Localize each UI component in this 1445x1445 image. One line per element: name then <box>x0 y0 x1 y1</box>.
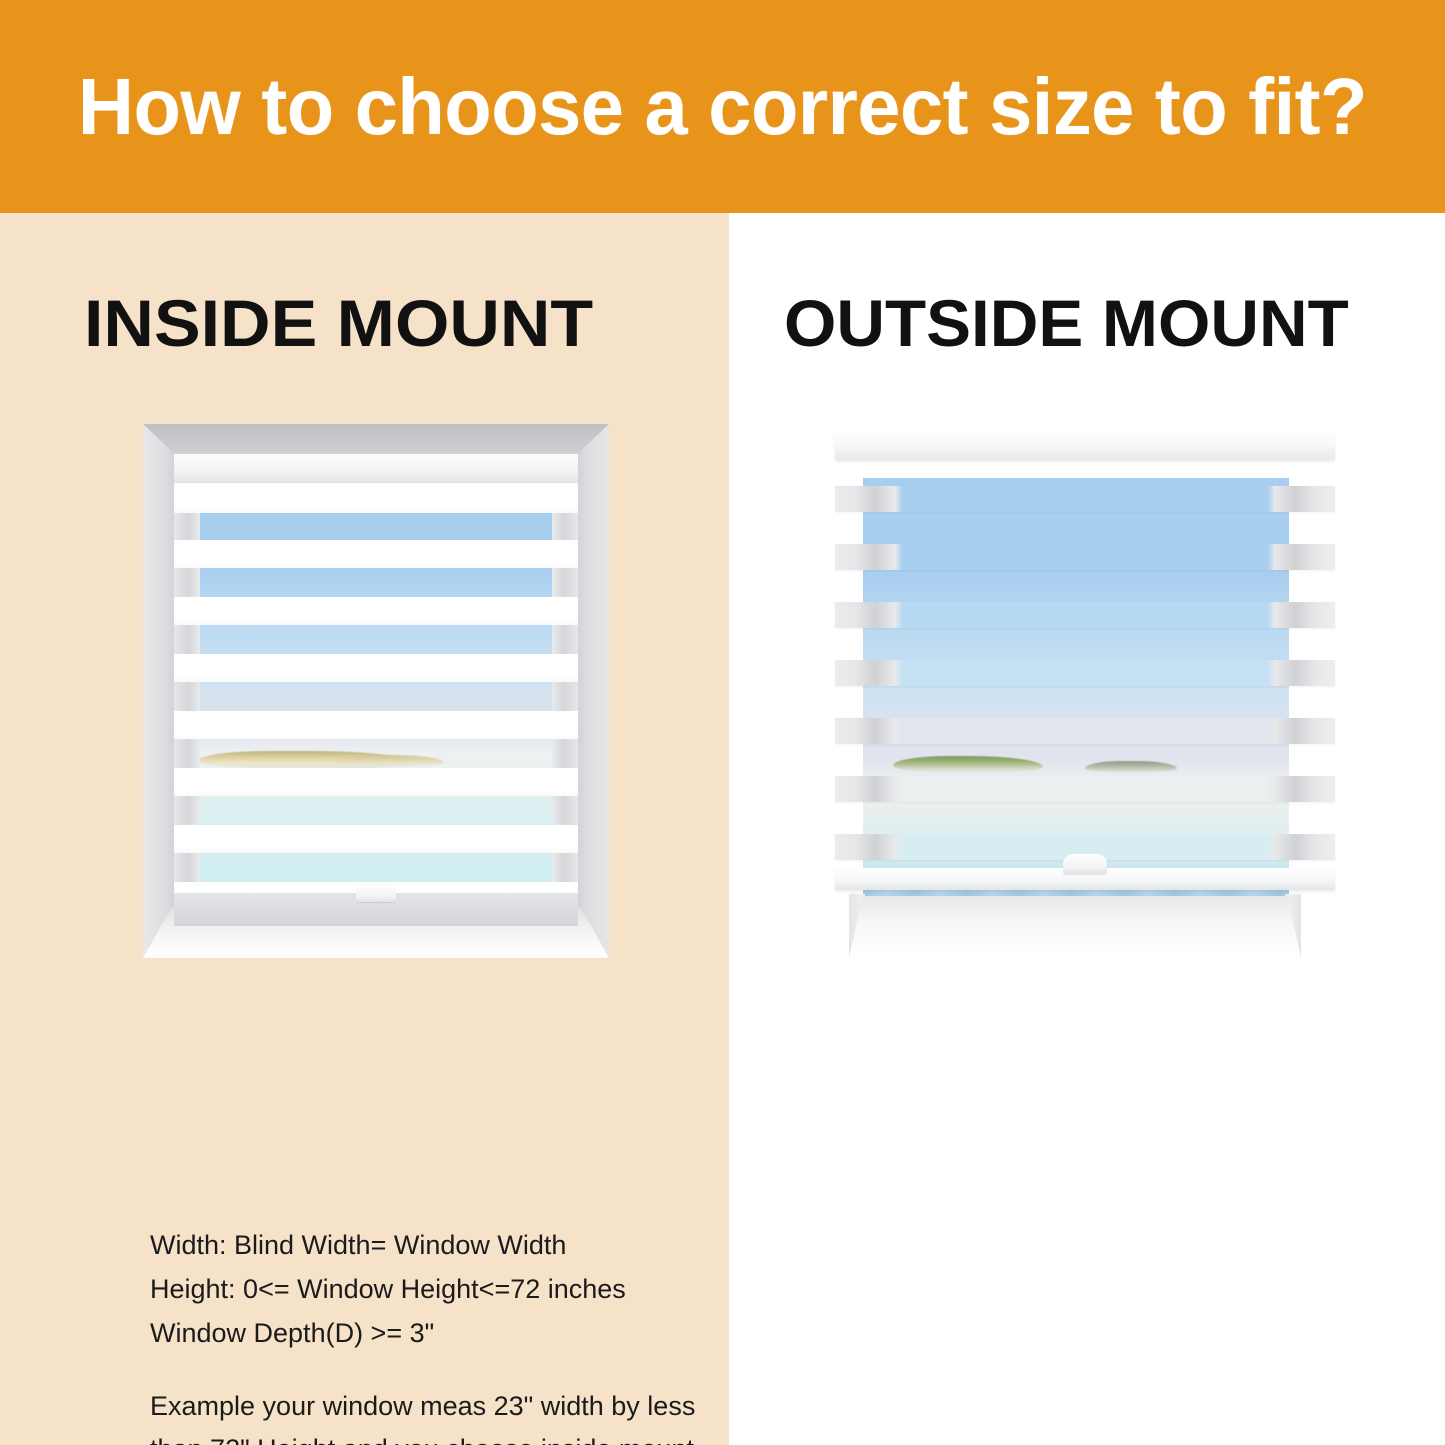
blind-slat <box>835 602 1335 628</box>
outside-mount-heading: OUTSIDE MOUNT <box>784 285 1349 361</box>
blind-side-tab <box>174 513 200 540</box>
island-shape-secondary <box>1085 761 1177 772</box>
blind-headrail <box>835 430 1335 460</box>
window-frame-top-bevel <box>143 424 609 458</box>
blind-opaque-band <box>174 483 578 513</box>
blind-opaque-band <box>174 654 578 682</box>
window-frame-right-bevel <box>575 424 609 958</box>
inside-mount-specs: Width: Blind Width= Window Width Height:… <box>150 1223 710 1355</box>
blind-slat <box>835 660 1335 686</box>
blind-slat <box>835 486 1335 512</box>
blind-slat <box>835 544 1335 570</box>
window-frame-left-bevel <box>143 424 177 958</box>
blind-slat-sheer <box>835 718 1335 744</box>
blind-handle[interactable] <box>356 883 396 902</box>
blind-side-tab <box>552 796 578 825</box>
blind-opaque-band <box>174 711 578 739</box>
blind-side-tab <box>552 625 578 654</box>
spec-line-height: Height: 0<= Window Height<=72 inches <box>150 1267 710 1311</box>
blind-slat-sheer <box>835 776 1335 802</box>
inside-mount-panel: INSIDE MOUNT <box>0 213 729 1445</box>
blind-opaque-band <box>174 825 578 853</box>
spec-line-depth: Window Depth(D) >= 3" <box>150 1311 710 1355</box>
example-paragraph: Example your window meas 23" width by le… <box>150 1385 710 1445</box>
blind-side-tab <box>552 568 578 597</box>
blind-opaque-band <box>174 540 578 568</box>
inside-mount-window-illustration <box>143 424 609 958</box>
blind-side-tab <box>174 739 200 768</box>
blind-side-tab <box>552 739 578 768</box>
blind-side-tab <box>552 682 578 711</box>
blind-side-tab <box>552 853 578 882</box>
page-title: How to choose a correct size to fit? <box>78 61 1367 153</box>
blind-slat-sheer <box>835 544 1335 570</box>
blind-handle[interactable] <box>1063 854 1107 874</box>
blind-slat-sheer <box>835 602 1335 628</box>
blind-side-tab <box>174 568 200 597</box>
blind-opaque-band <box>174 768 578 796</box>
inside-mount-heading: INSIDE MOUNT <box>84 285 593 361</box>
blind-slat <box>835 776 1335 802</box>
outside-mount-window-illustration <box>829 424 1341 958</box>
window-sill <box>849 896 1301 958</box>
spec-line-width: Width: Blind Width= Window Width <box>150 1223 710 1267</box>
blind-side-tab <box>174 682 200 711</box>
inside-mount-example: Example your window meas 23" width by le… <box>150 1385 710 1445</box>
window-opening <box>174 454 578 926</box>
blind-side-tab <box>552 513 578 540</box>
header-banner: How to choose a correct size to fit? <box>0 0 1445 213</box>
blind-slat-sheer <box>835 660 1335 686</box>
island-shape-secondary <box>334 755 444 766</box>
island-shape <box>893 756 1043 772</box>
blind-side-tab <box>174 625 200 654</box>
size-guide-page: How to choose a correct size to fit? INS… <box>0 0 1445 1445</box>
blind-side-tab <box>174 853 200 882</box>
blind-side-tab <box>174 796 200 825</box>
blind-headrail <box>174 454 578 483</box>
outside-mount-panel: OUTSIDE MOUNT <box>729 213 1445 1445</box>
blind-slat <box>835 718 1335 744</box>
blind-opaque-band <box>174 597 578 625</box>
blind-slat-sheer <box>835 486 1335 512</box>
